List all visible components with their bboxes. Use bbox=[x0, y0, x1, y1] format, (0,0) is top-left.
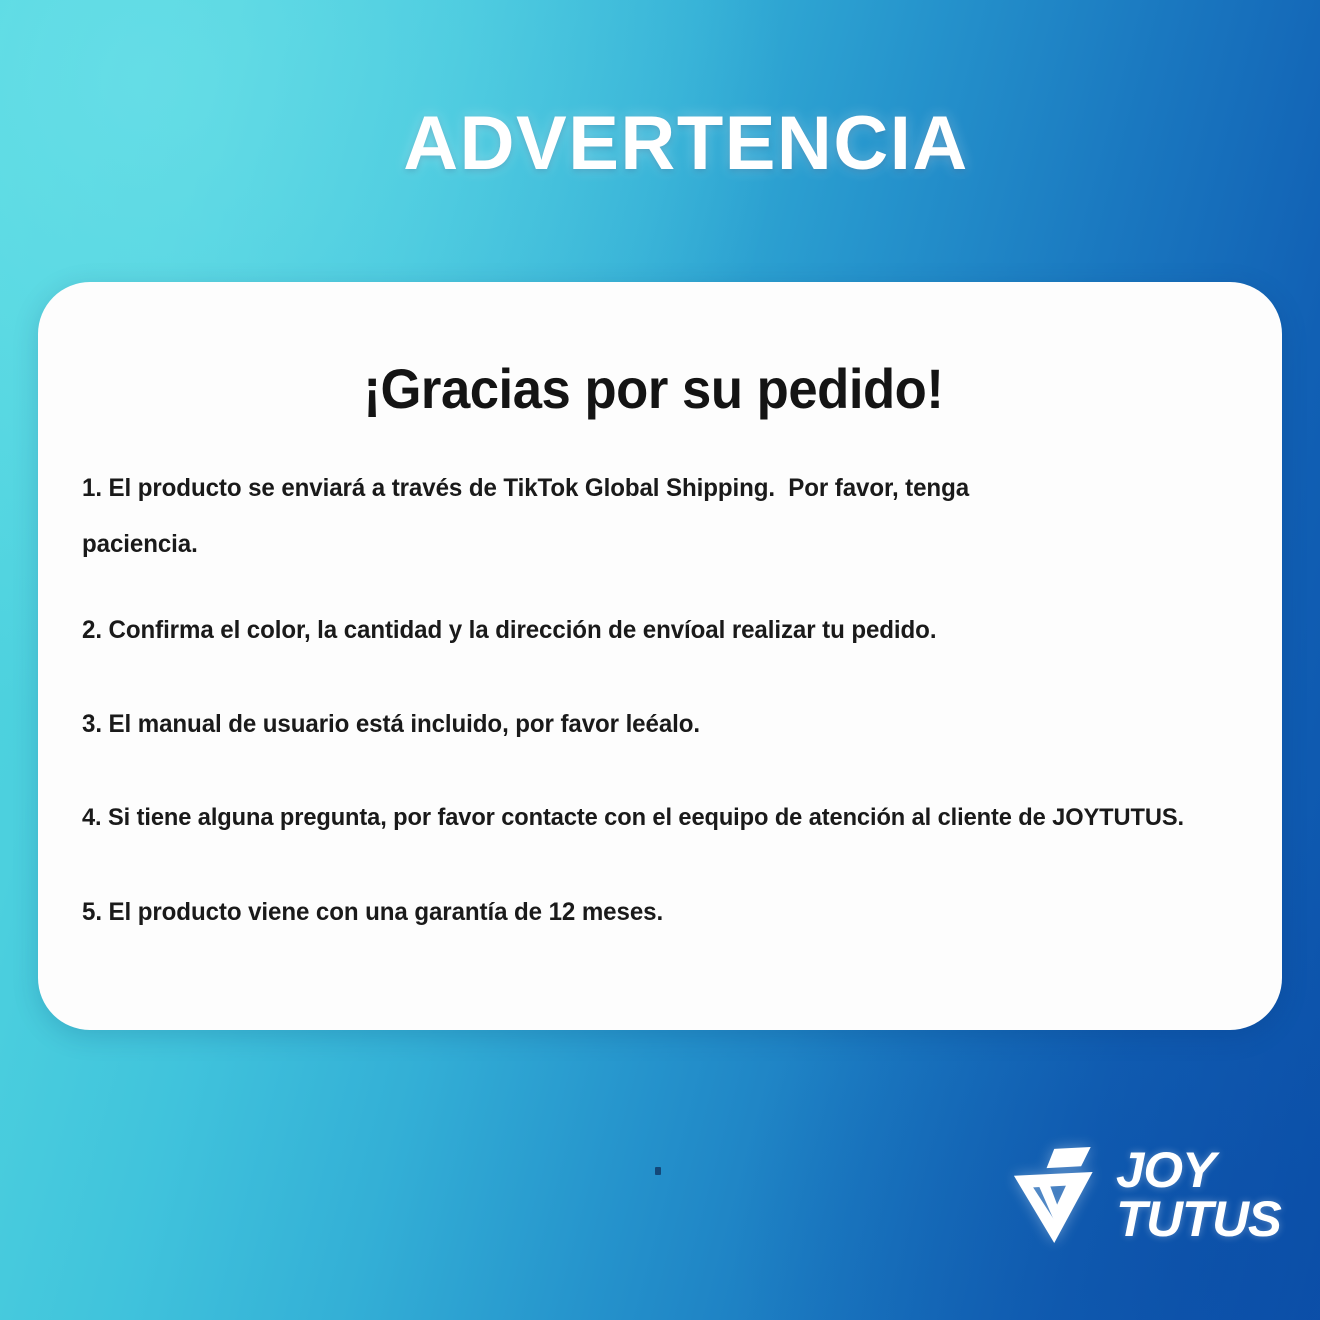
logo-word-tutus: TUTUS bbox=[1116, 1194, 1281, 1244]
logo-wordmark: JOY TUTUS bbox=[1116, 1147, 1278, 1244]
card-heading: ¡Gracias por su pedido! bbox=[75, 358, 1244, 420]
notice-item-1: 1. El producto se enviará a través de Ti… bbox=[82, 460, 1203, 572]
notice-item-2: 2. Confirma el color, la cantidad y la d… bbox=[82, 602, 1203, 658]
notice-card: ¡Gracias por su pedido! 1. El producto s… bbox=[38, 282, 1282, 1030]
page-title: ADVERTENCIA bbox=[0, 104, 1320, 184]
notice-item-4: 4. Si tiene alguna pregunta, por favor c… bbox=[82, 790, 1203, 846]
advertencia-banner: ADVERTENCIA ¡Gracias por su pedido! 1. E… bbox=[0, 0, 1320, 1320]
notice-item-3: 3. El manual de usuario está incluido, p… bbox=[82, 696, 1203, 752]
notice-list: 1. El producto se enviará a través de Ti… bbox=[82, 460, 1244, 940]
joytutus-logo: JOY TUTUS bbox=[1012, 1136, 1274, 1254]
notice-item-5: 5. El producto viene con una garantía de… bbox=[82, 884, 1203, 940]
joytutus-check-triangle-icon bbox=[1012, 1145, 1108, 1245]
logo-word-joy: JOY bbox=[1116, 1147, 1281, 1194]
dot-artifact bbox=[655, 1167, 661, 1175]
